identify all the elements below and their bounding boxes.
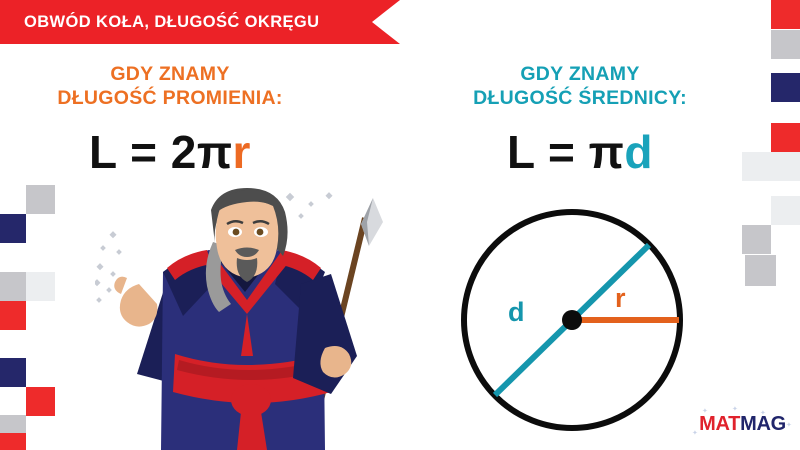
- formula-column-diameter: GDY ZNAMY DŁUGOŚĆ ŚREDNICY: L = πd: [420, 62, 740, 175]
- heading-radius-line1: GDY ZNAMY: [110, 63, 229, 85]
- decor-square: [771, 196, 800, 225]
- decor-square: [0, 433, 26, 450]
- heading-diameter-line1: GDY ZNAMY: [520, 63, 639, 85]
- matmag-logo[interactable]: ✦ ✦ ✦ ✦ ✦ MATMAG: [690, 408, 795, 442]
- formula-diameter-variable: d: [624, 126, 653, 178]
- wizard-left-hand: [120, 284, 157, 327]
- spear-blade-icon: [361, 198, 383, 246]
- circle-diagram: [455, 203, 690, 438]
- heading-diameter: GDY ZNAMY DŁUGOŚĆ ŚREDNICY:: [420, 62, 740, 111]
- decor-square: [0, 301, 26, 330]
- infographic-canvas: OBWÓD KOŁA, DŁUGOŚĆ OKRĘGU GDY ZNAMY DŁU…: [0, 0, 800, 450]
- decor-square: [26, 387, 55, 416]
- formula-column-radius: GDY ZNAMY DŁUGOŚĆ PROMIENIA: L = 2πr: [10, 62, 330, 175]
- formula-circumference-diameter: L = πd: [420, 129, 740, 175]
- decor-square: [26, 185, 55, 214]
- formula-circumference-radius: L = 2πr: [10, 129, 330, 175]
- diameter-label: d: [508, 297, 525, 328]
- decor-square: [0, 358, 26, 387]
- decor-square: [771, 73, 800, 102]
- heading-diameter-line2: DŁUGOŚĆ ŚREDNICY:: [473, 87, 687, 109]
- decor-square: [742, 152, 771, 181]
- decor-square: [771, 30, 800, 59]
- logo-text-mat: MAT: [699, 413, 740, 435]
- decor-square: [0, 272, 26, 301]
- center-point-dot: [562, 310, 582, 330]
- wizard-pupil-left: [233, 229, 240, 236]
- header-banner: OBWÓD KOŁA, DŁUGOŚĆ OKRĘGU: [0, 0, 400, 44]
- decor-square: [742, 225, 771, 254]
- decor-square: [771, 0, 800, 29]
- wizard-sash-knot: [231, 384, 271, 416]
- wizard-illustration: [95, 188, 385, 450]
- formula-radius-variable: r: [233, 126, 251, 178]
- logo-sparkle-icon: ✦: [732, 406, 738, 413]
- decor-square: [771, 123, 800, 152]
- decor-square: [0, 214, 26, 243]
- logo-text-mag: MAG: [740, 413, 786, 435]
- heading-radius: GDY ZNAMY DŁUGOŚĆ PROMIENIA:: [10, 62, 330, 111]
- radius-label: r: [615, 283, 626, 314]
- decor-square: [0, 415, 26, 433]
- wizard-pupil-right: [257, 229, 264, 236]
- wizard-left-fingers: [114, 277, 127, 294]
- formula-diameter-base: L = π: [507, 126, 624, 178]
- decor-square: [26, 272, 55, 301]
- formula-radius-base: L = 2π: [89, 126, 233, 178]
- logo-text: MATMAG: [690, 414, 795, 434]
- page-title: OBWÓD KOŁA, DŁUGOŚĆ OKRĘGU: [0, 13, 319, 32]
- heading-radius-line2: DŁUGOŚĆ PROMIENIA:: [57, 87, 282, 109]
- decor-square: [745, 255, 776, 286]
- decor-square: [771, 152, 800, 181]
